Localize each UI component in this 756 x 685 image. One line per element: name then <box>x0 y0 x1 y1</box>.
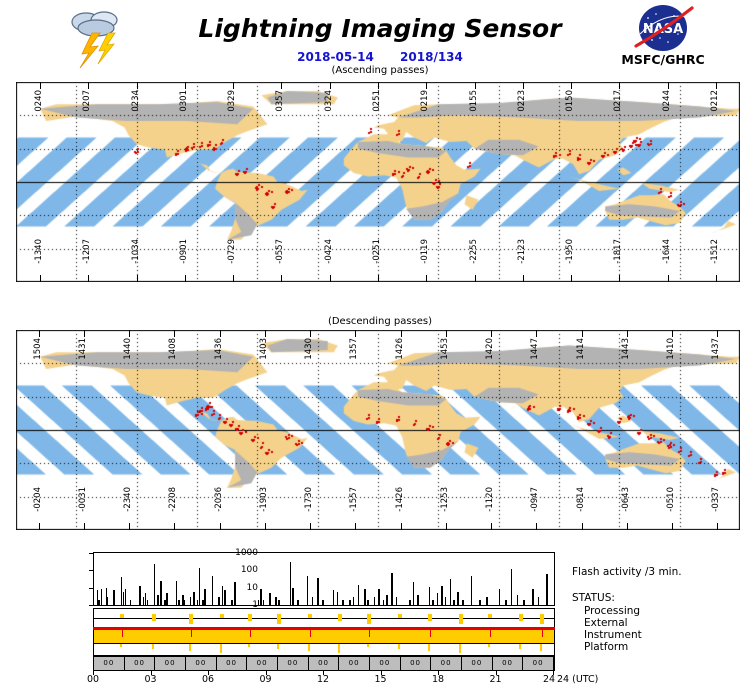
flash-bar <box>396 597 398 605</box>
map-tick-label: -0643 <box>622 487 630 512</box>
flash-bar <box>193 592 195 606</box>
orbit-cell[interactable]: 00 <box>247 657 278 670</box>
legend-processing: Processing <box>584 605 640 617</box>
flash-bar <box>107 597 109 605</box>
flash-bar <box>457 592 459 606</box>
orbit-cell[interactable]: 00 <box>309 657 340 670</box>
flash-bar <box>479 600 481 605</box>
processing-spike <box>367 614 371 624</box>
map-tick-label: 0301 <box>180 90 188 112</box>
flash-bar <box>178 600 180 605</box>
flash-bar <box>190 597 192 605</box>
flash-bar <box>441 586 443 605</box>
map-tick-label: 0155 <box>470 90 478 112</box>
map-tick-label: -1730 <box>305 487 313 512</box>
map-tick-label: -0119 <box>421 239 429 264</box>
flash-bar <box>199 568 201 605</box>
flash-bar <box>532 589 534 605</box>
map-tick-label: 1403 <box>260 338 268 360</box>
map-tick-label: -2123 <box>518 239 526 264</box>
map-tick-label: 0329 <box>228 90 236 112</box>
external-spike <box>490 630 491 637</box>
map-tick-label: 1453 <box>441 338 449 360</box>
map-tick-label: 0217 <box>614 90 622 112</box>
day-of-year: 2018/134 <box>400 50 463 64</box>
map-tick-label: -2340 <box>124 487 132 512</box>
flash-bar <box>417 595 419 605</box>
flash-bar <box>511 569 513 605</box>
processing-spike <box>488 614 492 618</box>
platform-spike <box>338 644 340 653</box>
external-spike <box>430 630 431 637</box>
ascending-pass-map[interactable]: 0240020702340301032903570324025102190155… <box>16 82 740 282</box>
processing-spike <box>152 614 156 621</box>
flash-bar <box>125 589 127 606</box>
platform-spike <box>428 644 430 651</box>
map-tick-label: 1410 <box>667 338 675 360</box>
flash-bar <box>333 590 335 605</box>
external-spike <box>369 630 370 637</box>
flash-bar <box>337 592 339 606</box>
orbit-cell[interactable]: 00 <box>523 657 554 670</box>
flash-bar <box>413 582 415 605</box>
map-tick-label: 1414 <box>577 338 585 360</box>
map-tick-label: 1443 <box>622 338 630 360</box>
map-tick-label: 1431 <box>79 338 87 360</box>
status-row-platform <box>93 643 555 656</box>
flash-bar <box>113 590 115 605</box>
legend-platform: Platform <box>584 641 628 653</box>
y-axis-tick-label: 1000 <box>214 548 258 558</box>
map-tick-label: 1357 <box>350 338 358 360</box>
orbit-cell[interactable]: 00 <box>155 657 186 670</box>
map-tick-label: -1817 <box>614 239 622 264</box>
flash-bar <box>462 600 464 605</box>
map-tick-label: -1340 <box>35 239 43 264</box>
map-tick-label: -1644 <box>663 239 671 264</box>
flash-bar <box>157 595 159 605</box>
map-tick-label: 1408 <box>169 338 177 360</box>
flash-bar <box>374 597 376 605</box>
flash-bar <box>290 562 292 605</box>
platform-spike <box>459 644 461 653</box>
flash-bar <box>386 595 388 605</box>
map-tick-label: 1426 <box>396 338 404 360</box>
map-tick-label: 1436 <box>215 338 223 360</box>
orbit-cell[interactable]: 00 <box>401 657 432 670</box>
platform-spike <box>189 644 191 651</box>
flash-bar <box>517 595 519 605</box>
nasa-center-label: MSFC/GHRC <box>604 52 722 67</box>
processing-spike <box>338 614 342 621</box>
flash-bar <box>275 597 277 605</box>
orbit-cell[interactable]: 00 <box>125 657 156 670</box>
orbit-cell[interactable]: 00 <box>186 657 217 670</box>
processing-spike <box>277 614 281 624</box>
flash-bar <box>166 593 168 605</box>
external-spike <box>310 630 311 637</box>
y-axis-tick-label: 10 <box>214 583 258 593</box>
map-tick-label: -2208 <box>169 487 177 512</box>
platform-spike <box>120 644 122 647</box>
processing-spike <box>120 614 124 618</box>
flash-bar <box>278 600 280 605</box>
flash-bar <box>322 600 324 605</box>
flash-bar <box>204 589 206 606</box>
processing-spike <box>428 614 432 621</box>
flash-bar <box>292 588 294 605</box>
flash-bar <box>391 573 393 605</box>
map-tick-label: -1120 <box>486 487 494 512</box>
nasa-meatball-logo: NASA <box>630 4 696 52</box>
flash-bar <box>130 600 132 605</box>
legend-status-header: STATUS: <box>572 592 615 604</box>
map-tick-label: -1034 <box>132 239 140 264</box>
orbit-strip: 000000000000000000000000000000 <box>93 656 555 671</box>
flash-bar <box>364 589 366 605</box>
flash-bar <box>154 564 156 605</box>
legend-flash-activity: Flash activity /3 min. <box>572 566 682 578</box>
flash-bar <box>505 600 507 605</box>
map-tick-label: 1447 <box>531 338 539 360</box>
external-spike <box>250 630 251 637</box>
flash-bar <box>101 589 103 606</box>
orbit-cell[interactable]: 00 <box>339 657 370 670</box>
orbit-cell[interactable]: 00 <box>217 657 248 670</box>
orbit-cell[interactable]: 00 <box>493 657 524 670</box>
orbit-cell[interactable]: 00 <box>278 657 309 670</box>
map-tick-label: -0337 <box>712 487 720 512</box>
processing-spike <box>308 614 312 618</box>
flash-bar <box>307 576 309 605</box>
external-status-line <box>93 627 555 630</box>
flash-bar <box>317 578 319 605</box>
flash-activity-bars <box>95 553 555 605</box>
flash-bar <box>312 597 314 605</box>
map-tick-label: -0204 <box>34 487 42 512</box>
map-tick-label: -1207 <box>83 239 91 264</box>
flash-bar <box>471 576 473 605</box>
map-tick-label: -1557 <box>350 487 358 512</box>
flash-bar <box>450 579 452 605</box>
flash-bar <box>184 600 186 605</box>
map-tick-label: -1253 <box>441 487 449 512</box>
processing-spike <box>189 614 193 624</box>
platform-spike <box>308 644 310 651</box>
map-tick-label: -0729 <box>228 239 236 264</box>
flash-bar <box>342 600 344 605</box>
flash-bar <box>269 593 271 605</box>
map-tick-label: -0901 <box>180 239 188 264</box>
map-tick-label: -2255 <box>470 239 478 264</box>
flash-activity-plot <box>93 552 555 606</box>
map-tick-label: 0219 <box>421 90 429 112</box>
flash-bar <box>409 600 411 605</box>
platform-spike <box>220 644 222 653</box>
orbit-cell[interactable]: 00 <box>370 657 401 670</box>
map-tick-label: -2036 <box>215 487 223 512</box>
flash-bar <box>499 589 501 606</box>
flash-bar <box>523 600 525 605</box>
platform-spike <box>367 644 369 647</box>
map-tick-label: 0234 <box>132 90 140 112</box>
flash-bar <box>453 600 455 605</box>
processing-spike <box>248 614 252 621</box>
flash-bar <box>358 585 360 605</box>
flash-bar <box>538 597 540 605</box>
platform-spike <box>248 644 250 647</box>
platform-spike <box>519 644 521 649</box>
flash-bar <box>383 600 385 605</box>
legend-instrument: Instrument <box>584 629 642 641</box>
platform-spike <box>398 644 400 649</box>
map-tick-label: 1504 <box>34 338 42 360</box>
processing-spike <box>459 614 463 624</box>
flash-bar <box>297 600 299 605</box>
map-tick-label: -1426 <box>396 487 404 512</box>
flash-activity-chart[interactable]: 1000100101 00000000000000000000000000000… <box>60 548 756 680</box>
orbit-cell[interactable]: 00 <box>431 657 462 670</box>
map-tick-label: 0324 <box>325 90 333 112</box>
flash-bar <box>367 600 369 605</box>
page-header: Lightning Imaging Sensor 2018-05-14 2018… <box>0 0 756 78</box>
map-tick-label: -0251 <box>373 239 381 264</box>
map-tick-label: -1950 <box>566 239 574 264</box>
processing-spike <box>519 614 523 621</box>
map-tick-label: 1430 <box>305 338 313 360</box>
map-tick-label: 0212 <box>711 90 719 112</box>
flash-bar <box>432 600 434 605</box>
map-tick-label: -0031 <box>79 487 87 512</box>
external-spike <box>191 630 192 637</box>
flash-bar <box>445 597 447 605</box>
map-tick-label: 1437 <box>712 338 720 360</box>
map-tick-label: 0150 <box>566 90 574 112</box>
flash-bar <box>353 597 355 605</box>
orbit-cell[interactable]: 00 <box>94 657 125 670</box>
map-tick-label: -0557 <box>276 239 284 264</box>
flash-bar <box>147 600 149 605</box>
flash-bar <box>139 586 141 605</box>
external-spike <box>542 630 543 637</box>
page-title: Lightning Imaging Sensor <box>180 14 580 43</box>
processing-spike <box>540 614 544 624</box>
y-axis-tick-label: 100 <box>214 565 258 575</box>
map-tick-label: 1440 <box>124 338 132 360</box>
map-tick-label: 0357 <box>276 90 284 112</box>
flash-bar <box>176 581 178 605</box>
map-tick-label: 0244 <box>663 90 671 112</box>
flash-bar <box>160 581 162 605</box>
platform-spike <box>277 644 279 649</box>
flash-bar <box>486 597 488 605</box>
date-line: 2018-05-14 2018/134 <box>180 50 580 64</box>
flash-bar <box>263 600 265 605</box>
descending-subtitle: (Descending passes) <box>180 316 580 327</box>
thunderstorm-cloud-icon <box>62 6 132 68</box>
flash-bar <box>429 587 431 605</box>
platform-spike <box>152 644 154 649</box>
platform-spike <box>540 644 542 651</box>
external-spike <box>122 630 123 637</box>
descending-pass-map[interactable]: 1504143114401408143614031430135714261453… <box>16 330 740 530</box>
platform-spike <box>488 644 490 647</box>
flash-bar <box>260 589 262 605</box>
map-tick-label: -0947 <box>531 487 539 512</box>
map-tick-label: 0207 <box>83 90 91 112</box>
processing-spike <box>398 614 402 618</box>
legend-external: External <box>584 617 628 629</box>
map-tick-label: -1903 <box>260 487 268 512</box>
orbit-cell[interactable]: 00 <box>462 657 493 670</box>
flash-bar <box>378 589 380 606</box>
map-tick-label: -0510 <box>667 487 675 512</box>
map-tick-label: -0424 <box>325 239 333 264</box>
status-row-instrument <box>93 628 555 644</box>
observation-date: 2018-05-14 <box>297 50 374 64</box>
map-tick-label: -0814 <box>577 487 585 512</box>
map-tick-label: 0240 <box>35 90 43 112</box>
ascending-subtitle: (Ascending passes) <box>180 65 580 76</box>
map-tick-label: -1512 <box>711 239 719 264</box>
flash-bar <box>349 600 351 605</box>
flash-bar <box>437 593 439 605</box>
map-tick-label: 0223 <box>518 90 526 112</box>
map-tick-label: 0251 <box>373 90 381 112</box>
processing-spike <box>220 614 224 618</box>
flash-bar <box>546 574 548 605</box>
map-tick-label: 1420 <box>486 338 494 360</box>
